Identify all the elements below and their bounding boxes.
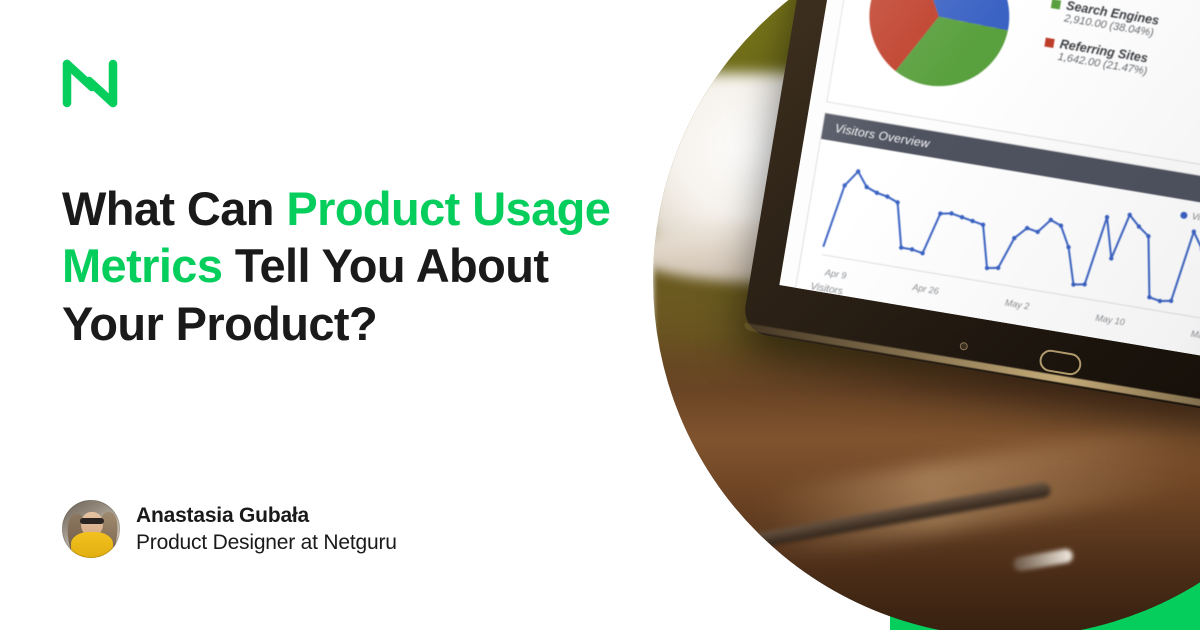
author-byline: Anastasia Gubała Product Designer at Net… — [62, 500, 397, 558]
legend-swatch-icon — [1051, 0, 1061, 9]
author-name: Anastasia Gubała — [136, 504, 397, 528]
headline-line2-dark: Tell You — [222, 239, 405, 292]
headline-line1-dark: What Can — [62, 182, 286, 235]
traffic-legend: Direct Traffic 3,097.00 (40.49%) Search … — [1040, 0, 1167, 91]
legend-item: Referring Sites 1,642.00 (21.47%) — [1042, 35, 1154, 79]
avatar — [62, 500, 120, 558]
x-tick: May — [1190, 329, 1200, 342]
x-tick: Apr 9 — [824, 267, 847, 280]
traffic-pie-chart — [847, 0, 1031, 109]
legend-item: Search Engines 2,910.00 (38.04%) — [1048, 0, 1160, 40]
hero-photo: 3.32 Pages/Visit Traffic Sources Overvie… — [653, 0, 1200, 630]
legend-swatch-icon — [1044, 37, 1054, 47]
left-content-column: What Can Product Usage Metrics Tell You … — [0, 0, 660, 630]
author-role: Product Designer at Netguru — [136, 531, 397, 555]
headline-line1-green: Product — [286, 182, 459, 235]
netguru-n-logo-icon[interactable] — [62, 57, 118, 109]
page-title: What Can Product Usage Metrics Tell You … — [62, 180, 622, 352]
author-text: Anastasia Gubała Product Designer at Net… — [136, 504, 397, 555]
hero-photo-circle: 3.32 Pages/Visit Traffic Sources Overvie… — [653, 0, 1200, 630]
